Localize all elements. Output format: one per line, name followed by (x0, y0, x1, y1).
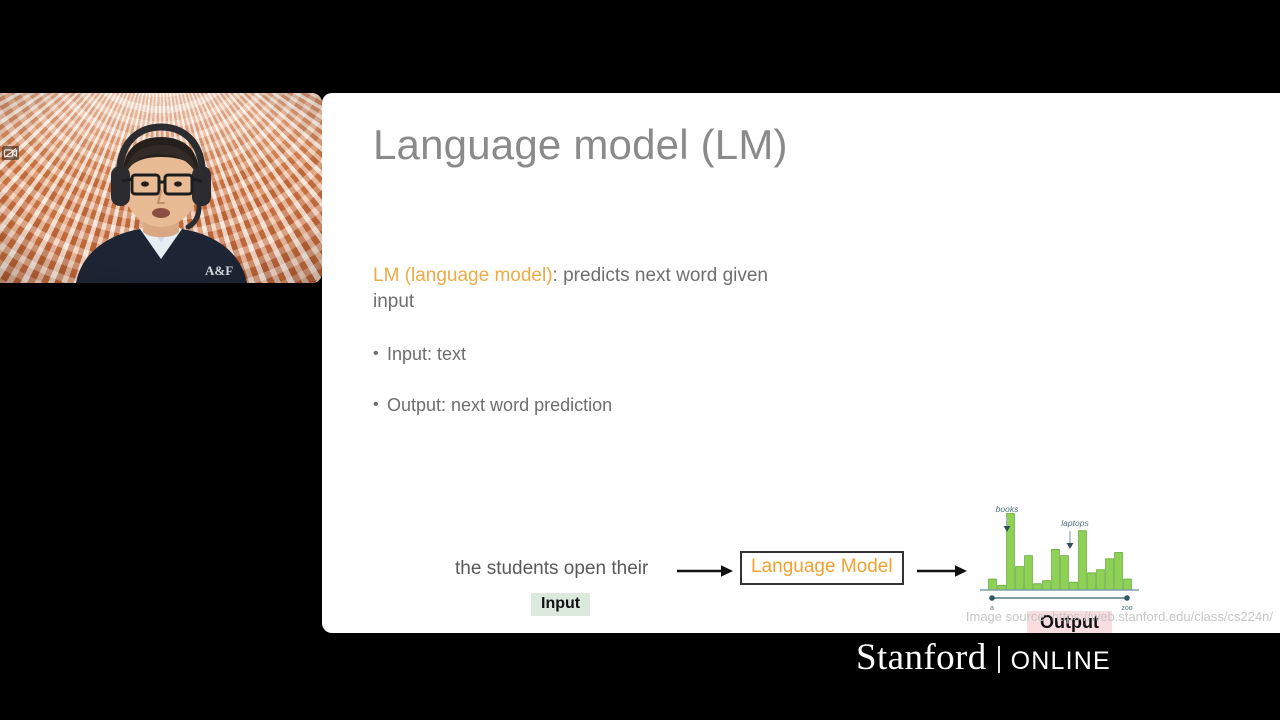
logo-divider (998, 646, 1000, 673)
image-source-caption: Image source: https://web.stanford.edu/c… (966, 609, 1273, 624)
language-model-label: Language Model (751, 556, 893, 577)
video-player-stage: A&F Language model (LM) LM (language mod… (0, 0, 1280, 720)
webcam-vignette (0, 93, 322, 283)
arrow-right-icon (917, 563, 969, 584)
lead-highlight: LM (language model) (373, 265, 553, 286)
brand-primary-text: Stanford (856, 638, 987, 678)
brand-secondary-text: ONLINE (1011, 641, 1111, 681)
output-distribution-chart: a zoo books laptops (972, 498, 1147, 613)
chart-bar (1034, 584, 1042, 590)
chart-bar (1097, 570, 1105, 590)
input-chip-label: Input (531, 593, 590, 616)
input-phrase-text: the students open their (455, 558, 648, 580)
webcam-tile: A&F (0, 93, 322, 283)
axis-start-dot (989, 595, 995, 601)
books-annotation: books (996, 504, 1019, 514)
bullet-text: Output: next word prediction (387, 393, 612, 417)
bullet-item-output: • Output: next word prediction (373, 393, 793, 417)
slide-body: LM (language model): predicts next word … (373, 263, 793, 417)
chart-bar (1007, 514, 1015, 590)
chart-bar (1106, 559, 1114, 590)
slide-title: Language model (LM) (373, 121, 788, 169)
axis-end-dot (1124, 595, 1130, 601)
presentation-slide: Language model (LM) LM (language model):… (322, 93, 1280, 633)
chart-bar (1061, 556, 1069, 590)
lead-paragraph: LM (language model): predicts next word … (373, 263, 793, 315)
camera-off-icon (2, 146, 19, 160)
laptops-annotation: laptops (1061, 518, 1089, 528)
chart-bars (989, 514, 1132, 590)
chart-bar (1043, 581, 1051, 590)
chart-bar (1025, 556, 1033, 590)
chart-bar (1016, 567, 1024, 590)
chart-bar (1052, 549, 1060, 590)
chart-bar (1124, 579, 1132, 590)
stanford-online-logo: Stanford ONLINE (856, 638, 1111, 681)
chart-bar (1079, 531, 1087, 590)
chart-bar (1115, 553, 1123, 590)
bullet-text: Input: text (387, 342, 466, 366)
bullet-item-input: • Input: text (373, 342, 793, 366)
chart-bar (1088, 573, 1096, 590)
laptops-arrowhead (1067, 543, 1074, 549)
chart-bar (989, 579, 997, 590)
arrow-right-icon (677, 563, 735, 584)
lm-pipeline-diagram: the students open their Input Language M… (422, 448, 1252, 588)
bullet-marker: • (373, 393, 387, 417)
bullet-marker: • (373, 342, 387, 366)
chart-bar (1070, 582, 1078, 590)
language-model-box: Language Model (740, 551, 904, 585)
